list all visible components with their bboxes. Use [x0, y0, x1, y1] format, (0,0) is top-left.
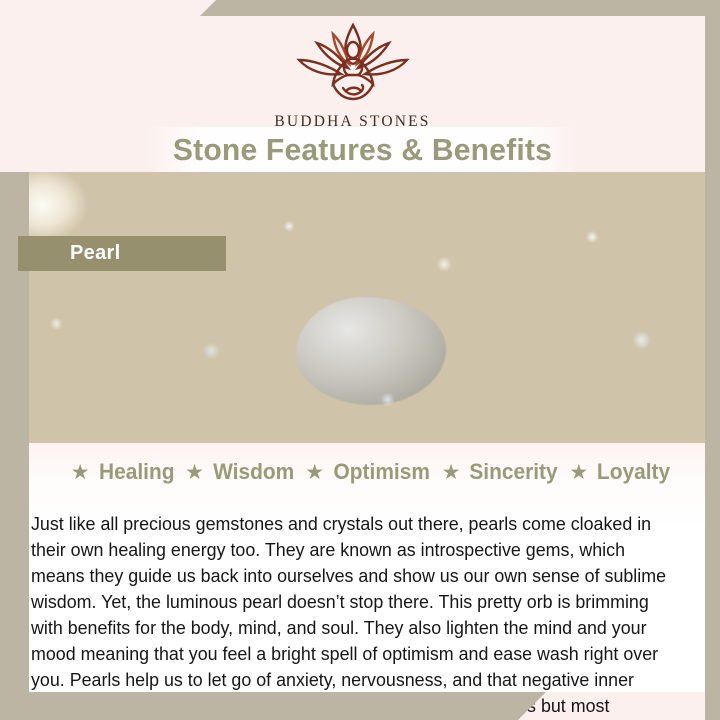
content-panel: ★ Healing ★ Wisdom ★ Optimism ★ Sincerit…	[29, 443, 705, 692]
benefit-label-optimism: Optimism	[334, 459, 430, 485]
star-icon: ★	[305, 462, 324, 483]
bottom-accent-band	[0, 692, 546, 720]
benefit-label-healing: Healing	[99, 459, 174, 485]
lotus-meditation-icon	[0, 18, 705, 111]
page-title: Stone Features & Benefits	[172, 132, 551, 168]
star-icon: ★	[442, 462, 461, 483]
benefit-item: ★ Loyalty	[560, 459, 672, 485]
star-icon: ★	[569, 462, 588, 483]
stone-name-badge: Pearl	[18, 236, 226, 271]
stone-name-label: Pearl	[70, 242, 120, 265]
stone-features-infographic: BUDDHA STONES Stone Features & Benefits …	[0, 0, 720, 720]
star-icon: ★	[185, 462, 204, 483]
benefit-item: ★ Sincerity	[433, 459, 561, 485]
right-accent-band	[705, 0, 720, 720]
pearls-photo	[0, 172, 705, 443]
benefit-label-loyalty: Loyalty	[597, 459, 670, 485]
benefit-item: ★ Wisdom	[176, 459, 296, 485]
star-icon: ★	[71, 462, 90, 483]
header: BUDDHA STONES Stone Features & Benefits	[0, 0, 705, 172]
benefit-item: ★ Healing	[62, 459, 176, 485]
benefits-list: ★ Healing ★ Wisdom ★ Optimism ★ Sincerit…	[29, 459, 705, 485]
photo-highlights	[0, 172, 705, 443]
brand-logo: BUDDHA STONES	[0, 18, 705, 131]
description-paragraph: Just like all precious gemstones and cry…	[31, 511, 676, 720]
benefit-label-sincerity: Sincerity	[470, 459, 558, 485]
page-title-plate: Stone Features & Benefits	[147, 127, 577, 172]
benefit-item: ★ Optimism	[296, 459, 432, 485]
benefit-label-wisdom: Wisdom	[213, 459, 294, 485]
top-accent-band	[200, 0, 720, 16]
